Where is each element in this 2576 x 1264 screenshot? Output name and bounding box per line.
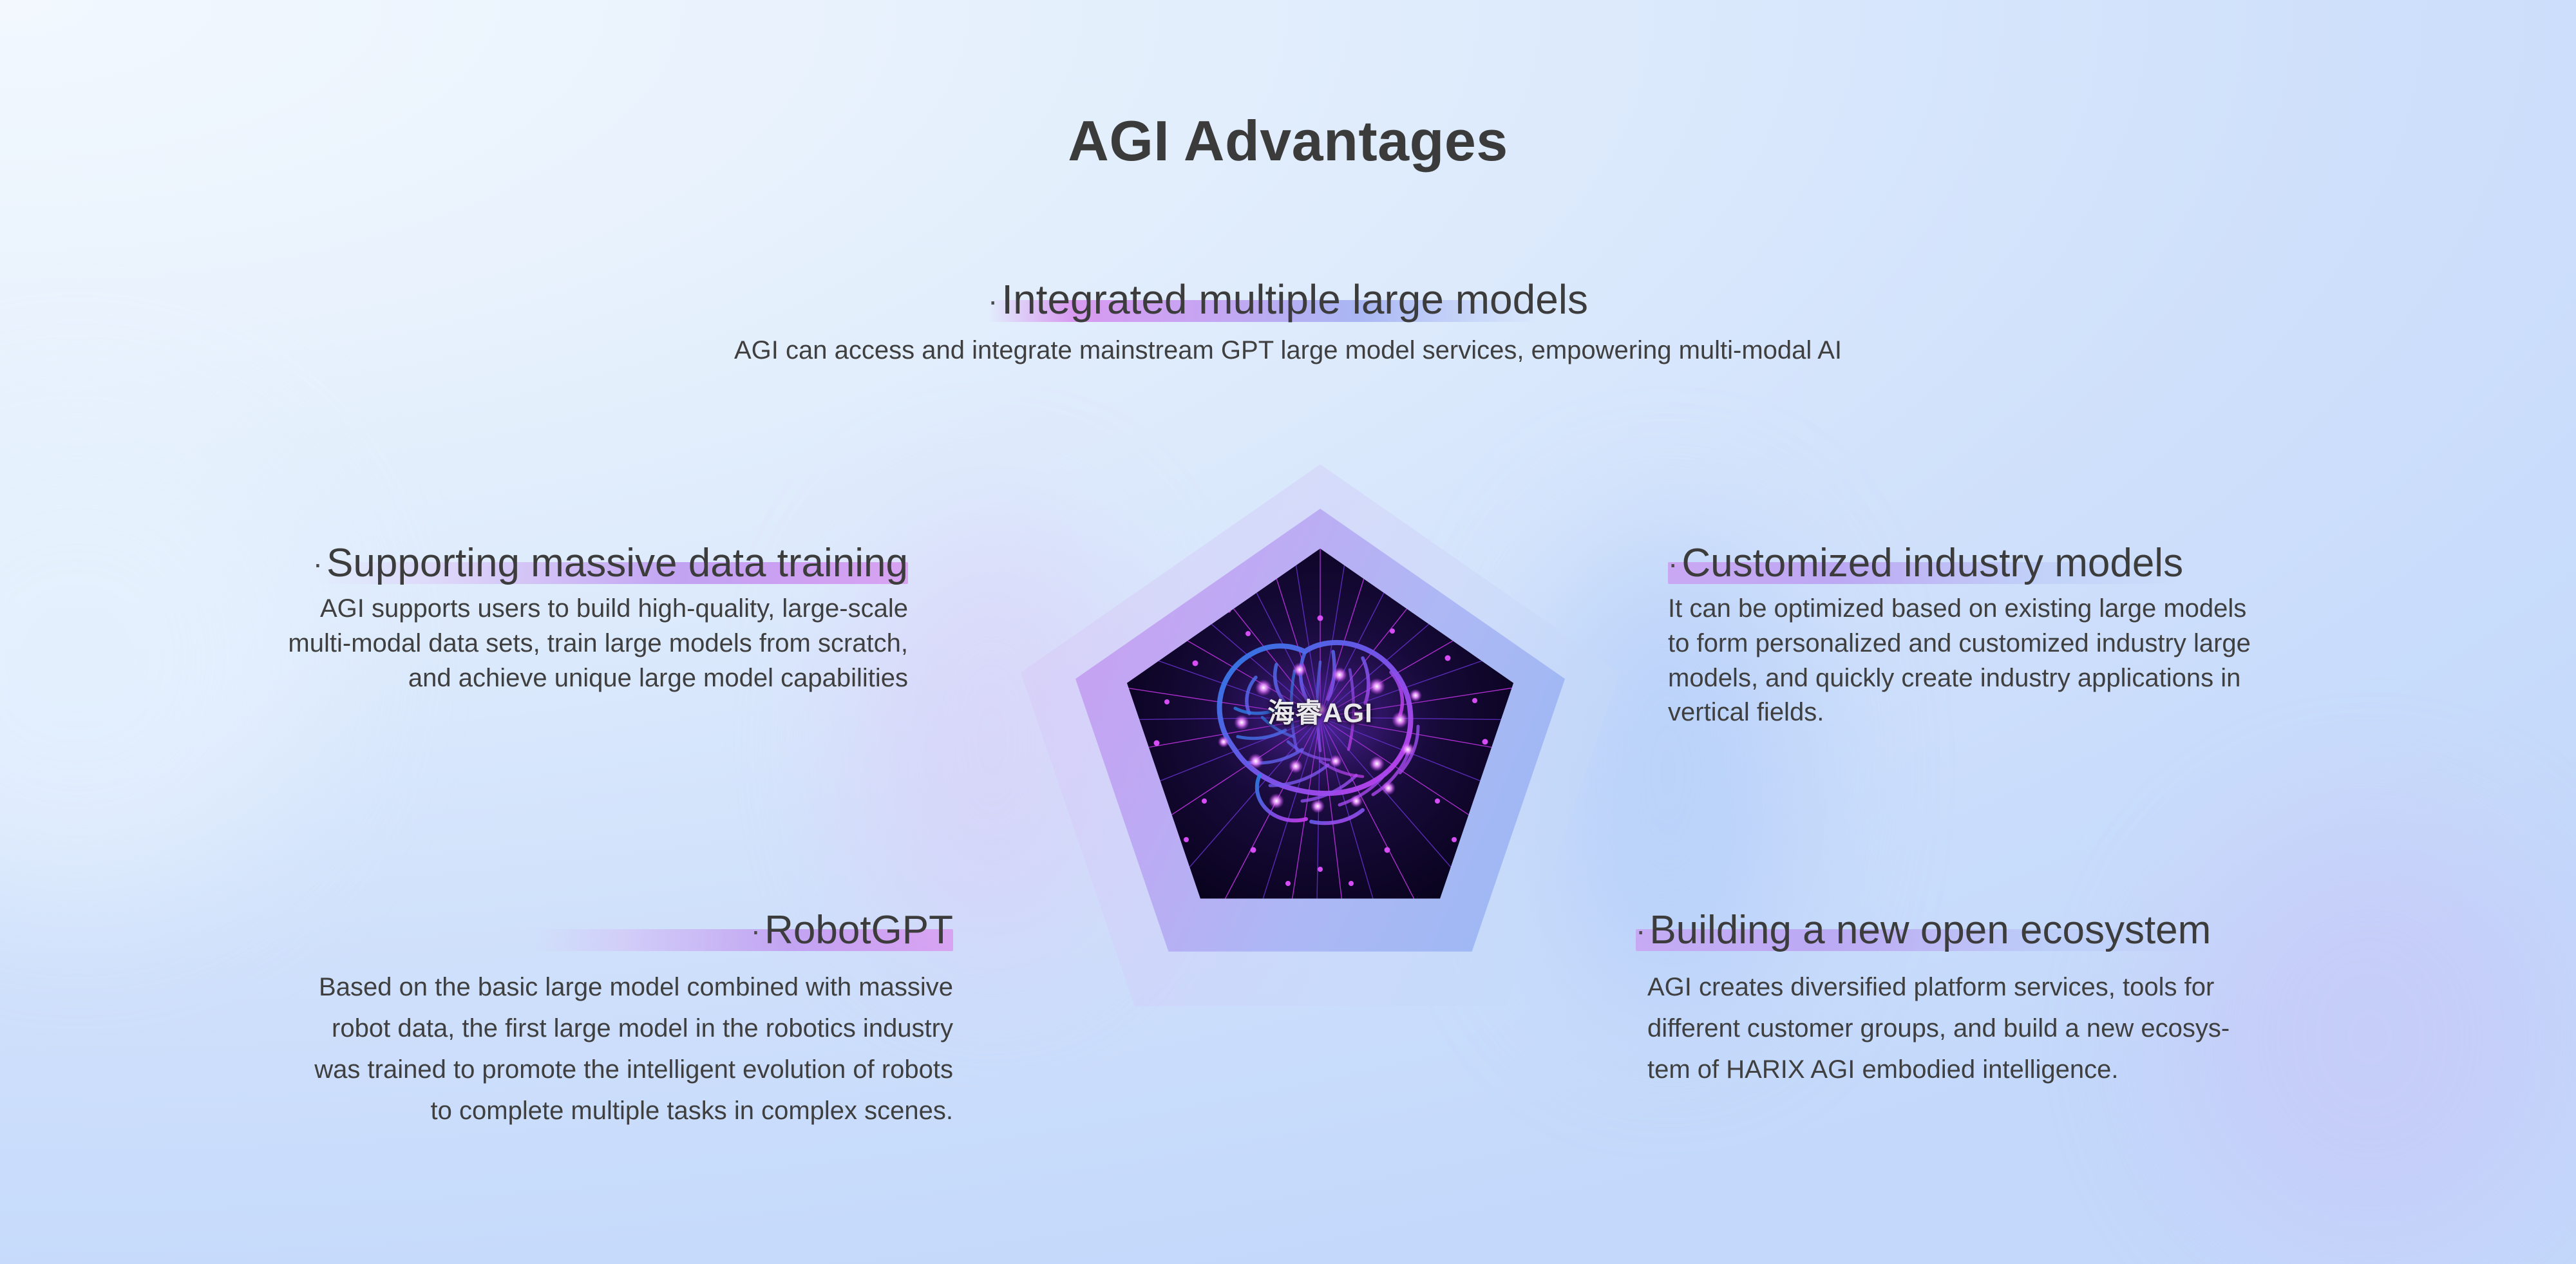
section-body: AGI can access and integrate mainstream … xyxy=(451,334,2125,368)
center-label: 海睿AGI xyxy=(1267,692,1373,731)
body-line: tem of HARIX AGI embodied intelligence. xyxy=(1647,1049,2537,1090)
body-line: and achieve unique large model capabilit… xyxy=(39,661,908,696)
body-line: It can be optimized based on existing la… xyxy=(1668,592,2531,627)
bullet-icon: · xyxy=(988,284,998,317)
section-heading-text: Supporting massive data training xyxy=(327,541,908,585)
section-body: Based on the basic large model combined … xyxy=(39,967,953,1131)
bullet-icon: · xyxy=(1668,547,1678,580)
section-heading-text: RobotGPT xyxy=(764,908,953,952)
body-line: AGI creates diversified platform service… xyxy=(1647,967,2537,1008)
section-body: AGI creates diversified platform service… xyxy=(1636,967,2537,1090)
section-body: AGI supports users to build high-quality… xyxy=(39,592,908,695)
section-heading: ·RobotGPT xyxy=(751,908,953,952)
body-line: models, and quickly create industry appl… xyxy=(1668,661,2531,696)
section-heading-text: Integrated multiple large models xyxy=(1001,276,1588,323)
body-line: AGI supports users to build high-quality… xyxy=(39,592,908,627)
section-heading: ·Customized industry models xyxy=(1668,541,2183,585)
page-title: AGI Advantages xyxy=(0,108,2576,174)
section-heading: ·Supporting massive data training xyxy=(313,541,908,585)
section-integrated-multiple-large-models: ·Integrated multiple large models AGI ca… xyxy=(451,277,2125,368)
section-supporting-massive-data-training: ·Supporting massive data training AGI su… xyxy=(39,541,908,695)
body-line: multi-modal data sets, train large model… xyxy=(39,627,908,661)
body-line: different customer groups, and build a n… xyxy=(1647,1008,2537,1049)
center-pentagon-graphic: 海睿AGI xyxy=(1018,393,1623,1114)
section-heading-text: Building a new open ecosystem xyxy=(1649,908,2211,952)
bullet-icon: · xyxy=(1636,914,1645,947)
section-heading-text: Customized industry models xyxy=(1681,541,2183,585)
section-heading: ·Building a new open ecosystem xyxy=(1636,908,2211,952)
section-customized-industry-models: ·Customized industry models It can be op… xyxy=(1668,541,2531,730)
bullet-icon: · xyxy=(313,547,323,580)
body-line: to form personalized and customized indu… xyxy=(1668,627,2531,661)
section-heading: ·Integrated multiple large models xyxy=(988,277,1588,323)
section-robotgpt: ·RobotGPT Based on the basic large model… xyxy=(39,908,953,1131)
body-line: was trained to promote the intelligent e… xyxy=(39,1049,953,1090)
body-line: to complete multiple tasks in complex sc… xyxy=(39,1090,953,1131)
bullet-icon: · xyxy=(751,914,761,947)
section-body: It can be optimized based on existing la… xyxy=(1668,592,2531,730)
body-line: Based on the basic large model combined … xyxy=(39,967,953,1008)
section-building-a-new-open-ecosystem: ·Building a new open ecosystem AGI creat… xyxy=(1636,908,2537,1090)
body-line: vertical fields. xyxy=(1668,695,2531,730)
body-line: robot data, the first large model in the… xyxy=(39,1008,953,1049)
slide-canvas: AGI Advantages ·Integrated multiple larg… xyxy=(0,0,2576,1264)
